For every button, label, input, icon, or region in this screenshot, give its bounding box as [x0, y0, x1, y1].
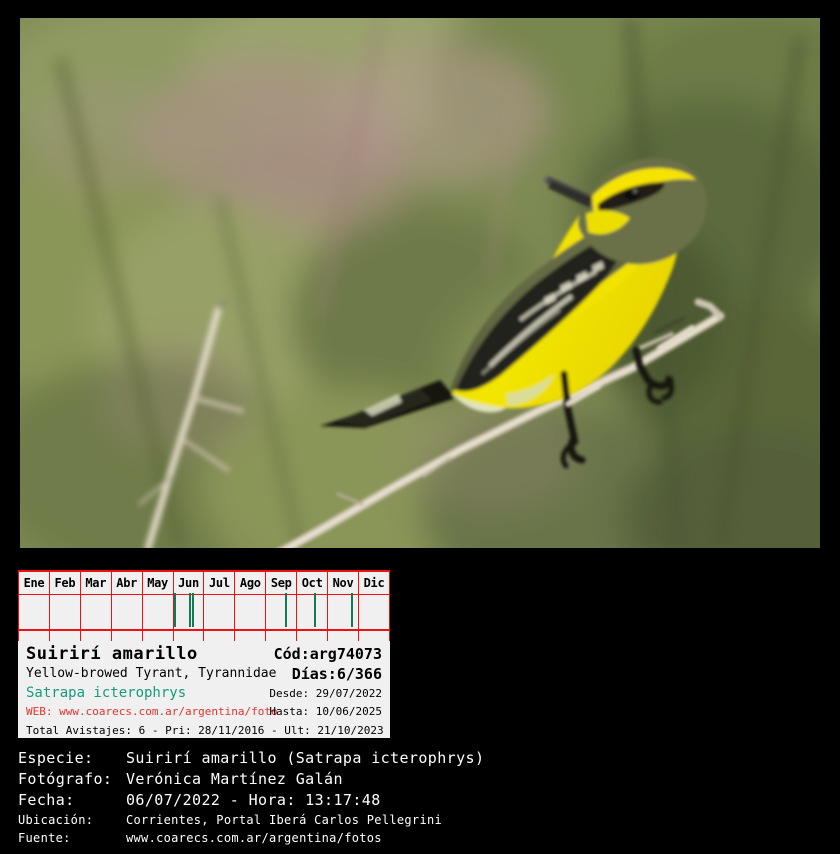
fecha-label: Fecha: — [18, 790, 126, 811]
month-foot-sep — [266, 630, 297, 641]
month-cell-ene — [19, 595, 50, 631]
month-header-jun: Jun — [173, 571, 204, 595]
month-cell-ago — [235, 595, 266, 631]
sighting-tick-0 — [174, 593, 176, 627]
species-record-card: Ene Feb Mar Abr May Jun Jul Ago Sep Oct … — [18, 570, 390, 738]
month-cell-may — [142, 595, 173, 631]
fotografo-value: Verónica Martínez Galán — [126, 769, 343, 790]
date-to-label: Hasta: 10/06/2025 — [269, 705, 382, 718]
sighting-tick-2 — [192, 593, 194, 627]
fotografo-label: Fotógrafo: — [18, 769, 126, 790]
month-foot-oct — [297, 630, 328, 641]
month-foot-dic — [358, 630, 389, 641]
ubicacion-value: Corrientes, Portal Iberá Carlos Pellegri… — [126, 811, 442, 829]
bird-photo-canvas — [20, 18, 820, 548]
month-cell-jul — [204, 595, 235, 631]
days-count-label: Días:6/366 — [292, 665, 382, 683]
meta-row-fuente: Fuente: www.coarecs.com.ar/argentina/fot… — [18, 829, 818, 847]
ubicacion-label: Ubicación: — [18, 811, 126, 829]
month-header-mar: Mar — [80, 571, 111, 595]
month-cell-sep — [266, 595, 297, 631]
month-foot-jun — [173, 630, 204, 641]
month-foot-abr — [111, 630, 142, 641]
sighting-tick-1 — [189, 593, 191, 627]
calendar-header-row: Ene Feb Mar Abr May Jun Jul Ago Sep Oct … — [19, 571, 390, 595]
sighting-tick-5 — [351, 593, 353, 627]
month-foot-mar — [80, 630, 111, 641]
month-foot-feb — [49, 630, 80, 641]
meta-row-fecha: Fecha: 06/07/2022 - Hora: 13:17:48 — [18, 790, 818, 811]
month-cell-abr — [111, 595, 142, 631]
month-cell-feb — [49, 595, 80, 631]
month-header-oct: Oct — [297, 571, 328, 595]
sighting-tick-3 — [285, 593, 287, 627]
calendar-table: Ene Feb Mar Abr May Jun Jul Ago Sep Oct … — [18, 570, 390, 641]
month-cell-dic — [358, 595, 389, 631]
bird-photograph — [20, 18, 820, 548]
fuente-label: Fuente: — [18, 829, 126, 847]
month-cell-mar — [80, 595, 111, 631]
month-foot-may — [142, 630, 173, 641]
date-from-label: Desde: 29/07/2022 — [269, 687, 382, 700]
total-sightings-label: Total Avistajes: 6 - Pri: 28/11/2016 - U… — [26, 724, 384, 737]
month-header-nov: Nov — [328, 571, 359, 595]
sighting-tick-4 — [314, 593, 316, 627]
fuente-value[interactable]: www.coarecs.com.ar/argentina/fotos — [126, 829, 382, 847]
especie-value: Suirirí amarillo (Satrapa icterophrys) — [126, 748, 484, 769]
common-name-label: Suirirí amarillo — [26, 644, 198, 664]
meta-row-ubicacion: Ubicación: Corrientes, Portal Iberá Carl… — [18, 811, 818, 829]
month-header-ago: Ago — [235, 571, 266, 595]
month-header-sep: Sep — [266, 571, 297, 595]
month-foot-jul — [204, 630, 235, 641]
meta-row-especie: Especie: Suirirí amarillo (Satrapa icter… — [18, 748, 818, 769]
especie-label: Especie: — [18, 748, 126, 769]
month-header-ene: Ene — [19, 571, 50, 595]
photo-metadata-panel: Especie: Suirirí amarillo (Satrapa icter… — [18, 748, 818, 847]
calendar-footer-row — [19, 630, 390, 641]
monthly-sightings-calendar: Ene Feb Mar Abr May Jun Jul Ago Sep Oct … — [18, 570, 390, 642]
month-foot-ago — [235, 630, 266, 641]
fecha-value: 06/07/2022 - Hora: 13:17:48 — [126, 790, 381, 811]
month-header-may: May — [142, 571, 173, 595]
month-foot-nov — [328, 630, 359, 641]
month-header-dic: Dic — [358, 571, 389, 595]
month-foot-ene — [19, 630, 50, 641]
month-cell-oct — [297, 595, 328, 631]
calendar-plot-row — [19, 595, 390, 631]
scientific-name-label: Satrapa icterophrys — [26, 685, 186, 701]
meta-row-fotografo: Fotógrafo: Verónica Martínez Galán — [18, 769, 818, 790]
month-header-feb: Feb — [49, 571, 80, 595]
record-info-block: Suirirí amarillo Yellow-browed Tyrant, T… — [18, 642, 390, 738]
english-name-label: Yellow-browed Tyrant, Tyrannidae — [26, 666, 276, 681]
species-code-label: Cód:arg74073 — [274, 645, 382, 663]
month-header-abr: Abr — [111, 571, 142, 595]
month-cell-nov — [328, 595, 359, 631]
web-url-label[interactable]: WEB: www.coarecs.com.ar/argentina/foto — [26, 705, 278, 718]
month-header-jul: Jul — [204, 571, 235, 595]
